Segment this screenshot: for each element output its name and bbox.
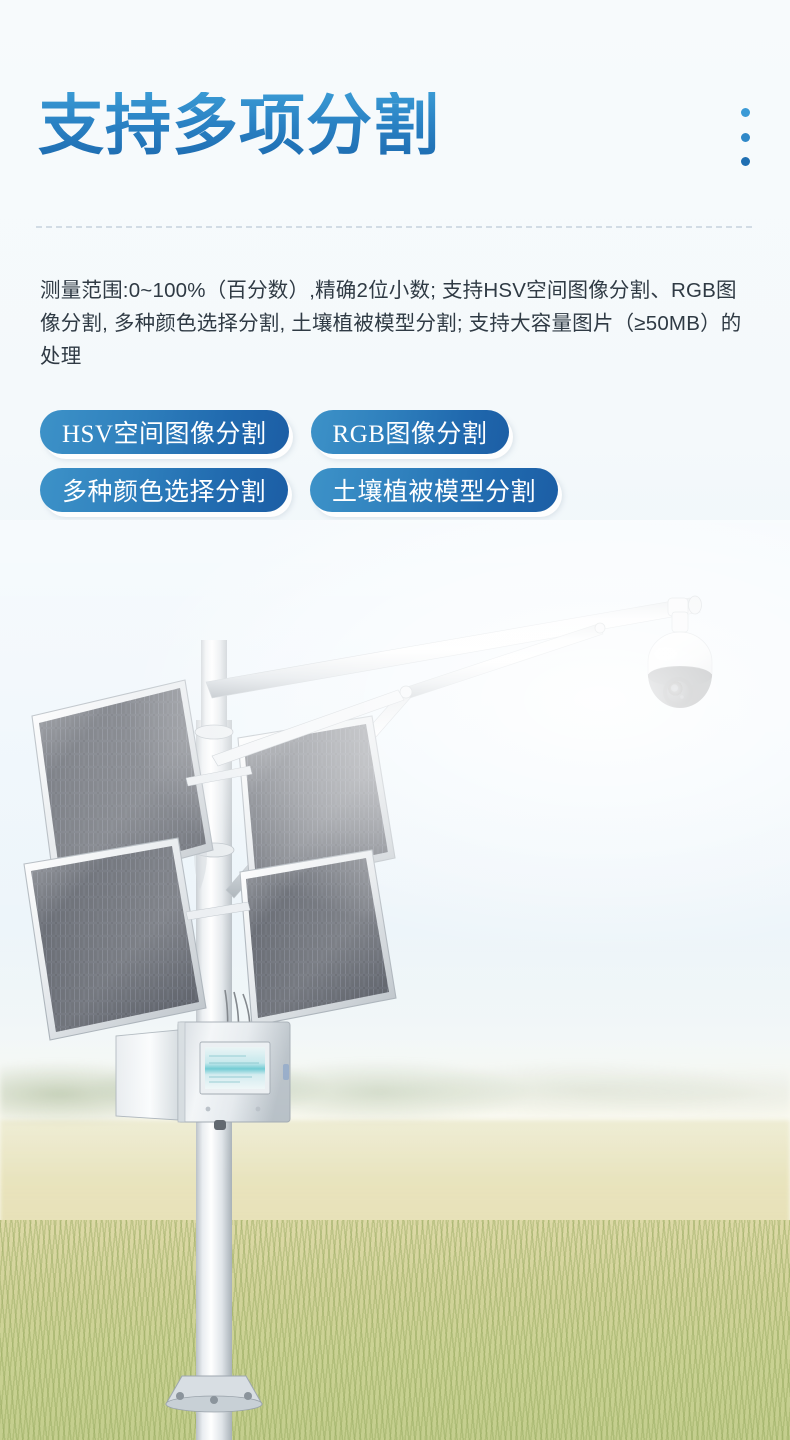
- vertical-ellipsis-icon[interactable]: [734, 108, 756, 166]
- solar-panel-lower-right: [240, 850, 396, 1026]
- header-divider: [36, 226, 752, 228]
- ptz-dome-camera: [648, 612, 712, 708]
- solar-panel-lower-left: [24, 838, 206, 1040]
- base-flange: [166, 1376, 262, 1412]
- tag-row-2: 多种颜色选择分割 土壤植被模型分割: [40, 468, 756, 512]
- monitoring-station-rig: [0, 520, 790, 1440]
- page-title: 支持多项分割: [38, 92, 440, 161]
- control-cabinet: [116, 1022, 290, 1130]
- feature-description: 测量范围:0~100%（百分数）,精确2位小数; 支持HSV空间图像分割、RGB…: [40, 274, 756, 373]
- tag-soil-vegetation-segmentation[interactable]: 土壤植被模型分割: [310, 468, 558, 512]
- product-photo: [0, 520, 790, 1440]
- product-feature-page: 支持多项分割 测量范围:0~100%（百分数）,精确2位小数; 支持HSV空间图…: [0, 0, 790, 1440]
- page-header: 支持多项分割: [0, 0, 790, 240]
- ellipsis-dot-3: [741, 157, 750, 166]
- tag-hsv-segmentation[interactable]: HSV空间图像分割: [40, 410, 289, 454]
- tag-row-1: HSV空间图像分割 RGB图像分割: [40, 410, 756, 454]
- ellipsis-dot-2: [741, 133, 750, 142]
- tag-multicolor-segmentation[interactable]: 多种颜色选择分割: [40, 468, 288, 512]
- tag-rgb-segmentation[interactable]: RGB图像分割: [311, 410, 510, 454]
- feature-tag-list: HSV空间图像分割 RGB图像分割 多种颜色选择分割 土壤植被模型分割: [40, 410, 756, 526]
- ellipsis-dot-1: [741, 108, 750, 117]
